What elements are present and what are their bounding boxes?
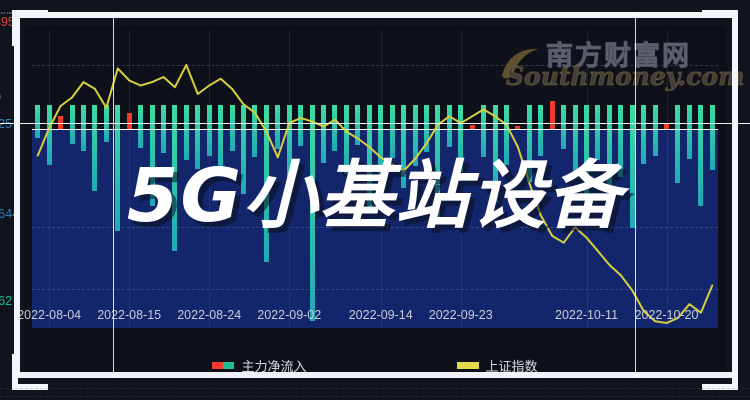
y-axis-label-2: -25 [0, 117, 12, 131]
crosshair-vertical-1 [113, 12, 114, 378]
x-axis-label-0: 2022-08-04 [17, 308, 81, 322]
corner-bracket-top-left [12, 10, 48, 46]
y-axis-label-1: 0 [0, 90, 1, 104]
corner-bracket-bottom-left [12, 354, 48, 390]
x-axis-label-6: 2022-10-11 [555, 308, 618, 322]
x-axis-label-2: 2022-08-24 [177, 308, 241, 322]
frame-rail-right [732, 12, 738, 378]
shanghai-index-polyline [38, 65, 713, 323]
legend-swatch-shanghai-index [457, 362, 479, 369]
top-strip [0, 0, 750, 12]
x-axis-label-5: 2022-09-23 [429, 308, 493, 322]
plot-area [32, 31, 718, 328]
corner-bracket-top-right [702, 10, 738, 46]
crosshair-vertical-2 [635, 12, 636, 378]
corner-bracket-bottom-right [702, 354, 738, 390]
x-axis-label-1: 2022-08-15 [97, 308, 161, 322]
y-axis-label-4: -62 [0, 294, 12, 308]
frame-rail-bottom [14, 372, 738, 378]
legend-swatch-net-inflow [212, 362, 234, 369]
screenshot-root: 3950-25-644-62 流入：亿元 2022-08-042022-08-1… [0, 0, 750, 400]
bottom-dashed-line-1 [0, 396, 750, 397]
index-line-chart [32, 31, 718, 328]
frame-rail-left [14, 12, 20, 378]
x-axis-label-3: 2022-09-02 [257, 308, 321, 322]
x-axis-label-4: 2022-09-14 [349, 308, 413, 322]
frame-rail-top [14, 12, 738, 18]
x-axis-label-7: 2022-10-20 [635, 308, 699, 322]
bottom-dashed-line-0 [0, 388, 750, 389]
